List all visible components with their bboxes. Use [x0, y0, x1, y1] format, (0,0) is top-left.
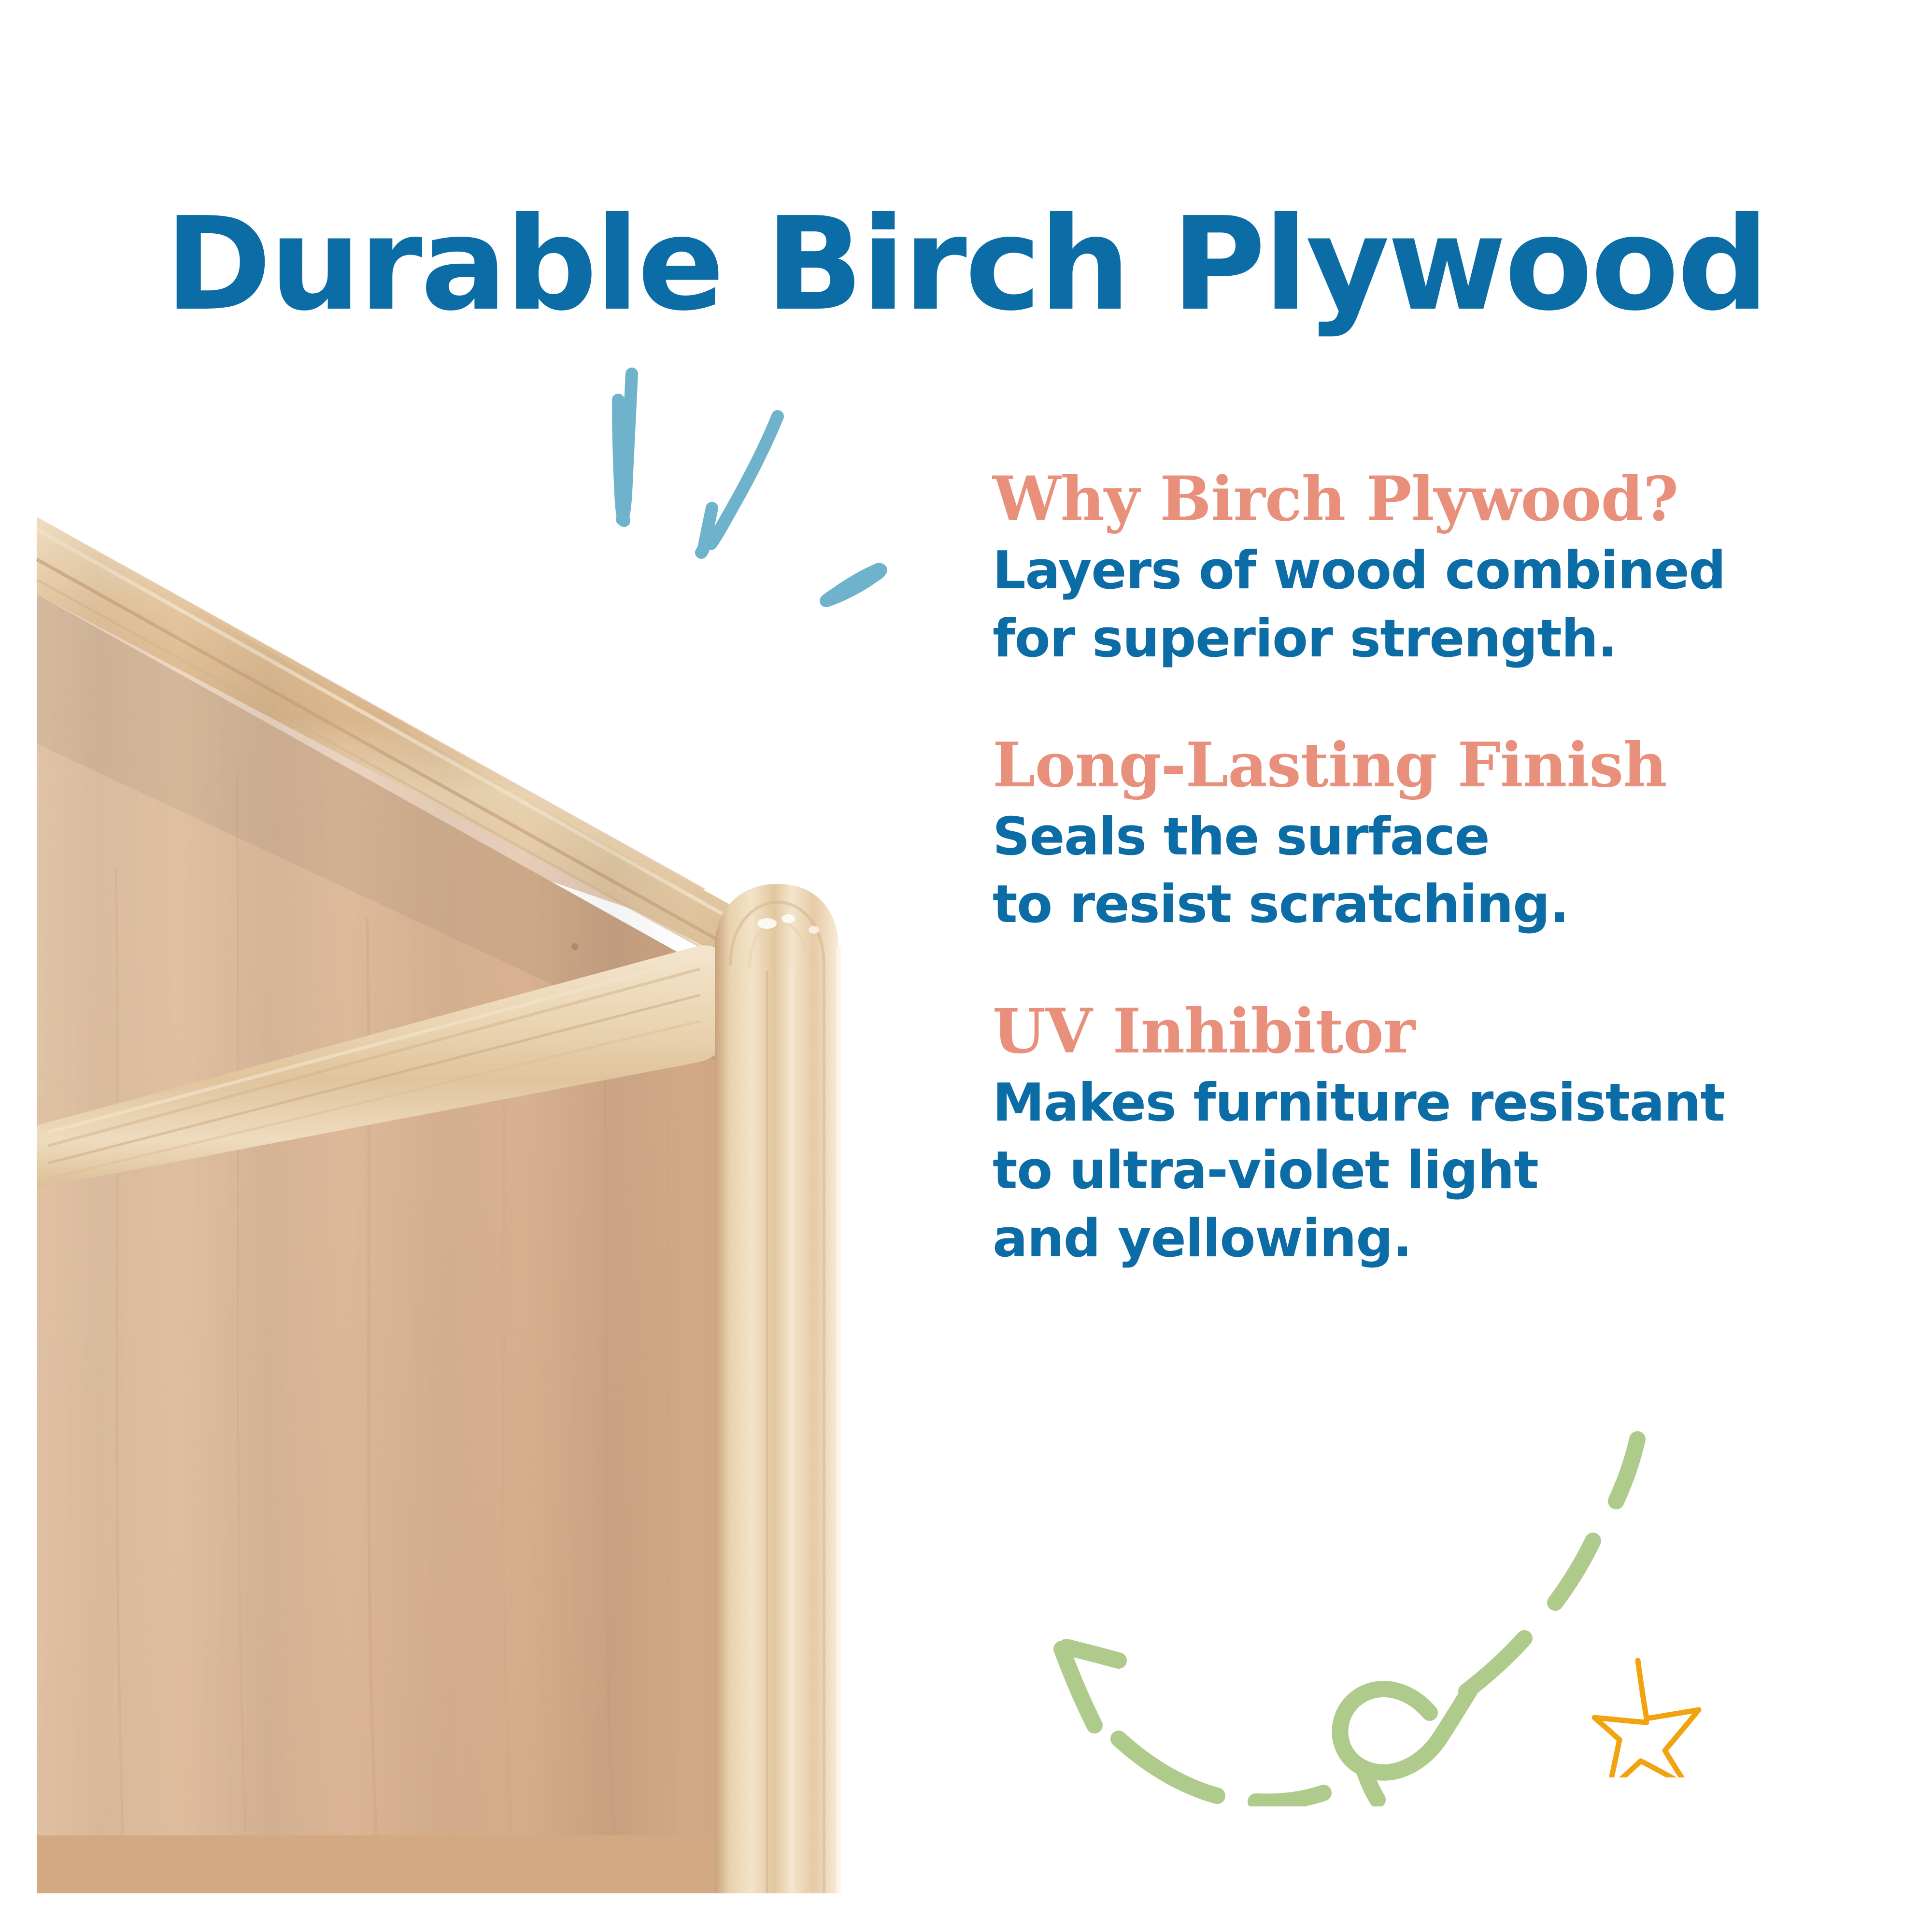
feature-body-line: for superior strength.	[993, 605, 1862, 673]
feature-block-uv-inhibitor: UV Inhibitor Makes furniture resistant t…	[993, 996, 1862, 1273]
feature-body-why-birch-plywood: Layers of wood combined for superior str…	[993, 537, 1862, 673]
feature-block-long-lasting-finish: Long-Lasting Finish Seals the surface to…	[993, 730, 1862, 939]
product-photo	[29, 435, 913, 1893]
feature-body-line: to ultra-violet light	[993, 1137, 1862, 1205]
feature-heading-why-birch-plywood: Why Birch Plywood?	[993, 464, 1862, 534]
curved-arrow-doodle-icon	[1005, 1420, 1681, 1809]
feature-body-line: to resist scratching.	[993, 871, 1862, 938]
page-title: Durable Birch Plywood	[0, 197, 1932, 332]
feature-body-line: Layers of wood combined	[993, 537, 1862, 605]
star-doodle-icon	[1587, 1652, 1707, 1780]
feature-list: Why Birch Plywood? Layers of wood combin…	[993, 464, 1862, 1273]
feature-heading-uv-inhibitor: UV Inhibitor	[993, 996, 1862, 1066]
feature-body-line: Makes furniture resistant	[993, 1069, 1862, 1137]
feature-body-line: Seals the surface	[993, 803, 1862, 871]
feature-block-why-birch-plywood: Why Birch Plywood? Layers of wood combin…	[993, 464, 1862, 673]
feature-body-long-lasting-finish: Seals the surface to resist scratching.	[993, 803, 1862, 939]
feature-body-line: and yellowing.	[993, 1205, 1862, 1273]
infographic-canvas: Durable Birch Plywood	[0, 0, 1932, 1932]
feature-heading-long-lasting-finish: Long-Lasting Finish	[993, 730, 1862, 800]
feature-body-uv-inhibitor: Makes furniture resistant to ultra-viole…	[993, 1069, 1862, 1273]
